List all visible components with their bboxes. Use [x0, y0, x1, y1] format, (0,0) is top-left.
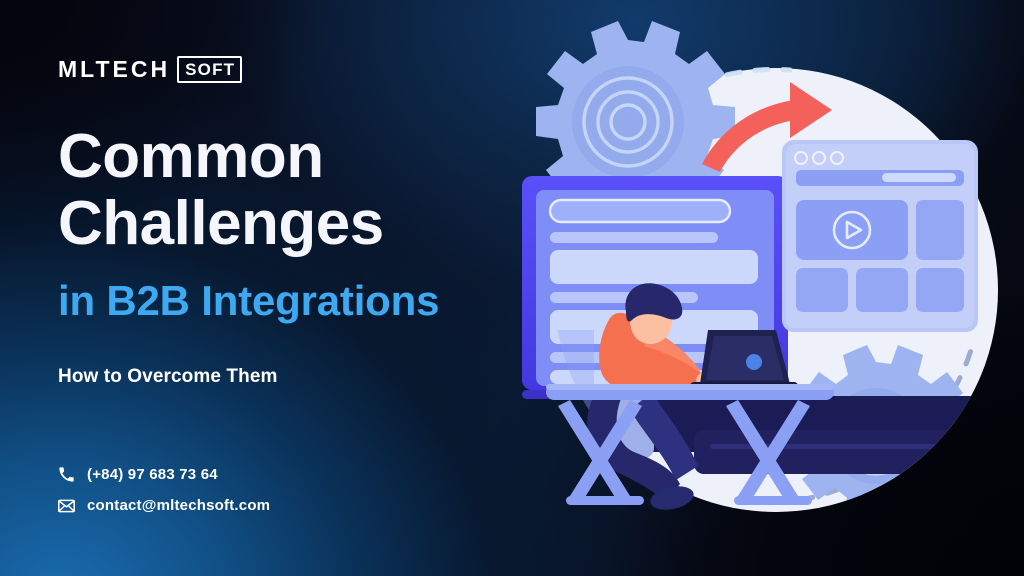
envelope-icon	[58, 497, 75, 514]
brand-logo[interactable]: MLTECH SOFT	[58, 56, 242, 83]
content-column: MLTECH SOFT Common Challenges in B2B Int…	[58, 0, 578, 576]
headline-block: Common Challenges in B2B Integrations Ho…	[58, 124, 578, 388]
hero-illustration	[504, 0, 1024, 576]
video-block	[796, 200, 908, 260]
browser-dot-1	[795, 152, 807, 164]
contact-phone-row[interactable]: (+84) 97 683 73 64	[58, 466, 270, 483]
logo-badge: SOFT	[177, 56, 242, 83]
contact-block: (+84) 97 683 73 64 contact@mltechsoft.co…	[58, 466, 270, 514]
cabinet-dark	[694, 430, 994, 474]
headline-subtitle: How to Overcome Them	[58, 366, 578, 388]
browser-window-panel	[782, 140, 978, 332]
desk-foot-right	[734, 496, 812, 505]
browser-dot-2	[813, 152, 825, 164]
browser-dot-3	[831, 152, 843, 164]
headline-accent-line: in B2B Integrations	[58, 278, 578, 324]
contact-email-row[interactable]: contact@mltechsoft.com	[58, 497, 270, 514]
phone-icon	[58, 466, 75, 483]
marketing-banner: MLTECH SOFT Common Challenges in B2B Int…	[0, 0, 1024, 576]
logo-wordmark: MLTECH	[58, 58, 170, 81]
headline-line-2: Challenges	[58, 191, 578, 258]
contact-email-text: contact@mltechsoft.com	[87, 497, 270, 514]
headline-line-1: Common	[58, 124, 578, 191]
contact-phone-text: (+84) 97 683 73 64	[87, 466, 218, 483]
